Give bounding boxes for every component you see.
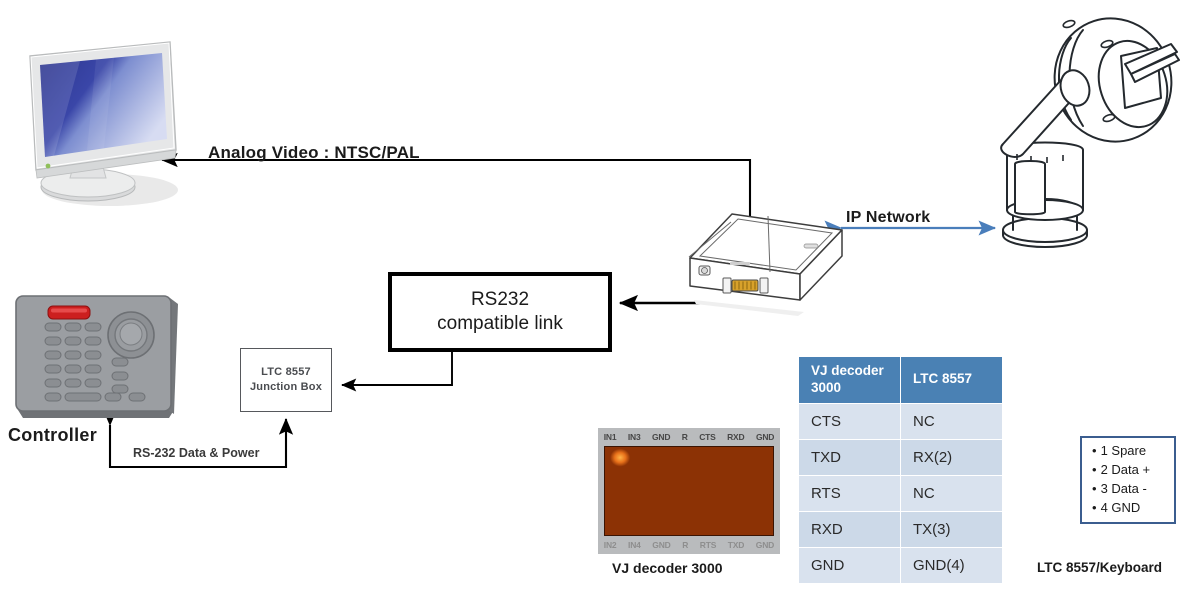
bottom-pin-label: IN2 [604,540,617,550]
list-item: 4 GND [1092,499,1150,518]
column-header-ltc8557: LTC 8557 [901,357,1003,404]
table-row: CTS NC [799,403,1003,439]
bottom-pin-label: IN4 [628,540,641,550]
bottom-pin-label: GND [652,540,670,550]
pin-mapping-table: VJ decoder 3000 LTC 8557 CTS NC TXD RX(2… [798,356,1003,584]
list-item: 1 Spare [1092,442,1150,461]
monitor-illustration [18,38,188,213]
table-row: RXD TX(3) [799,511,1003,547]
controller-label: Controller [8,425,97,446]
ltc8557-keyboard-pinout-box: 1 Spare 2 Data + 3 Data - 4 GND [1080,436,1176,524]
cell-vj-signal: RTS [799,475,901,511]
cell-vj-signal: RXD [799,511,901,547]
top-pin-label: R [682,432,688,442]
top-pin-label: IN1 [604,432,617,442]
cell-ltc-signal: NC [901,475,1003,511]
list-item: 2 Data + [1092,461,1150,480]
analog-video-label: Analog Video : NTSC/PAL [208,143,420,163]
cell-vj-signal: CTS [799,403,901,439]
top-pin-label: GND [756,432,774,442]
ptz-camera-illustration [965,2,1195,252]
rs232-box-line1: RS232 [471,288,529,312]
controller-illustration [12,292,180,422]
connector-bottom-pin-labels: IN2 IN4 GND R RTS TXD GND [598,536,780,554]
top-pin-label: CTS [699,432,715,442]
bottom-pin-label: R [682,540,688,550]
column-header-vj-decoder: VJ decoder 3000 [799,357,901,404]
top-pin-label: RXD [727,432,744,442]
list-item: 3 Data - [1092,480,1150,499]
ltc8557-junction-box: LTC 8557 Junction Box [240,348,332,412]
table-row: TXD RX(2) [799,439,1003,475]
table-header-row: VJ decoder 3000 LTC 8557 [799,357,1003,404]
table-row: RTS NC [799,475,1003,511]
bottom-pin-label: RTS [700,540,716,550]
bottom-pin-label: TXD [728,540,744,550]
bottom-pin-label: GND [756,540,774,550]
vj-decoder-connector-photo: IN1 IN3 GND R CTS RXD GND IN2 IN4 GND R … [598,428,780,552]
pinout-list: 1 Spare 2 Data + 3 Data - 4 GND [1092,442,1150,517]
cell-vj-signal: GND [799,547,901,583]
cell-vj-signal: TXD [799,439,901,475]
top-pin-label: GND [652,432,670,442]
diagram-canvas: RS232 compatible link LTC 8557 Junction … [0,0,1199,595]
rs232-box-line2: compatible link [437,312,563,336]
ltc8557-keyboard-caption: LTC 8557/Keyboard [1037,560,1162,576]
cell-ltc-signal: RX(2) [901,439,1003,475]
cell-ltc-signal: TX(3) [901,511,1003,547]
top-pin-label: IN3 [628,432,641,442]
junction-box-line2: Junction Box [250,380,322,395]
connector-top-pin-labels: IN1 IN3 GND R CTS RXD GND [598,428,780,446]
cell-ltc-signal: NC [901,403,1003,439]
vj-decoder-caption: VJ decoder 3000 [612,560,723,576]
rs232-data-power-label: RS-232 Data & Power [133,446,259,460]
table-row: GND GND(4) [799,547,1003,583]
connector-terminal-strip [604,446,774,536]
junction-box-line1: LTC 8557 [261,365,311,380]
ip-network-label: IP Network [846,209,930,227]
vj-decoder-device-illustration [672,200,862,348]
rs232-compatible-link-box: RS232 compatible link [388,272,612,352]
cell-ltc-signal: GND(4) [901,547,1003,583]
